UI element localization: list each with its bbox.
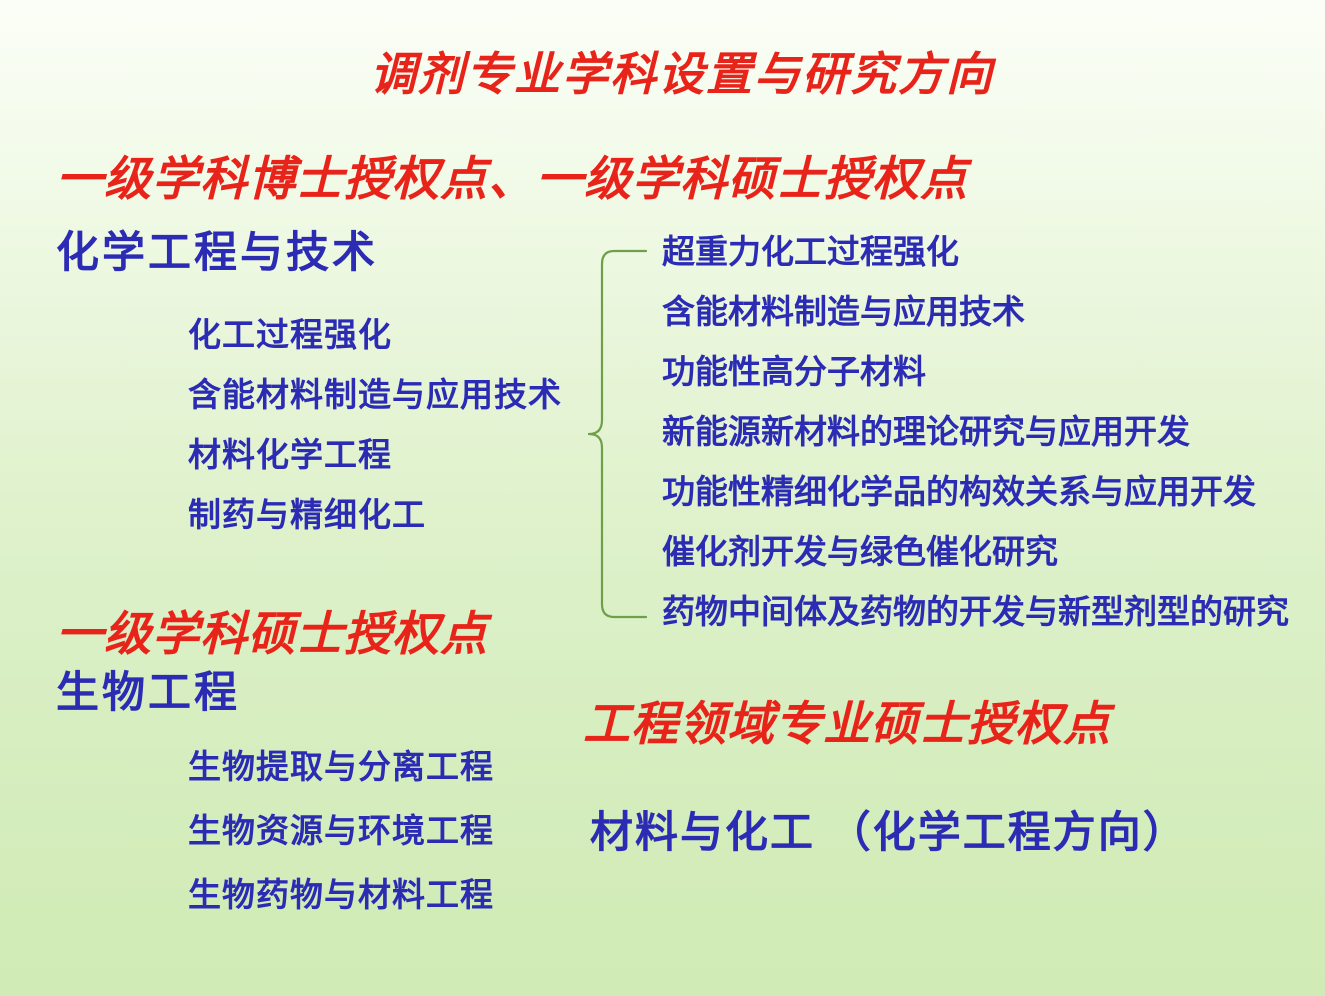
list-item: 制药与精细化工 [188, 496, 562, 556]
page-title: 调剂专业学科设置与研究方向 [370, 52, 994, 98]
list-item: 功能性精细化学品的构效关系与应用开发 [662, 473, 1289, 533]
list-item: 生物药物与材料工程 [188, 876, 494, 940]
list-item: 新能源新材料的理论研究与应用开发 [662, 413, 1289, 473]
heading-doctoral-authorization: 一级学科博士授权点、一级学科硕士授权点 [56, 157, 968, 204]
discipline-chemical-engineering: 化学工程与技术 [56, 232, 378, 275]
list-item: 生物提取与分离工程 [188, 748, 494, 812]
list-item: 生物资源与环境工程 [188, 812, 494, 876]
list-item: 含能材料制造与应用技术 [188, 376, 562, 436]
list-item: 催化剂开发与绿色催化研究 [662, 533, 1289, 593]
field-material-and-chemical-engineering: 材料与化工 （化学工程方向） [590, 812, 1188, 855]
discipline-bioengineering: 生物工程 [56, 672, 240, 715]
list-item: 功能性高分子材料 [662, 353, 1289, 413]
bioengineering-subdiscipline-list: 生物提取与分离工程 生物资源与环境工程 生物药物与材料工程 [188, 748, 494, 940]
chem-eng-subdiscipline-list: 化工过程强化 含能材料制造与应用技术 材料化学工程 制药与精细化工 [188, 316, 562, 556]
list-item: 药物中间体及药物的开发与新型剂型的研究 [662, 593, 1289, 653]
list-item: 含能材料制造与应用技术 [662, 293, 1289, 353]
list-item: 超重力化工过程强化 [662, 233, 1289, 293]
heading-professional-master-authorization: 工程领域专业硕士授权点 [583, 702, 1111, 749]
heading-master-authorization: 一级学科硕士授权点 [56, 612, 488, 659]
research-directions-list: 超重力化工过程强化 含能材料制造与应用技术 功能性高分子材料 新能源新材料的理论… [662, 233, 1289, 653]
curly-brace-connector [586, 248, 648, 620]
list-item: 化工过程强化 [188, 316, 562, 376]
list-item: 材料化学工程 [188, 436, 562, 496]
slide-canvas: 调剂专业学科设置与研究方向 一级学科博士授权点、一级学科硕士授权点 化学工程与技… [0, 0, 1325, 996]
